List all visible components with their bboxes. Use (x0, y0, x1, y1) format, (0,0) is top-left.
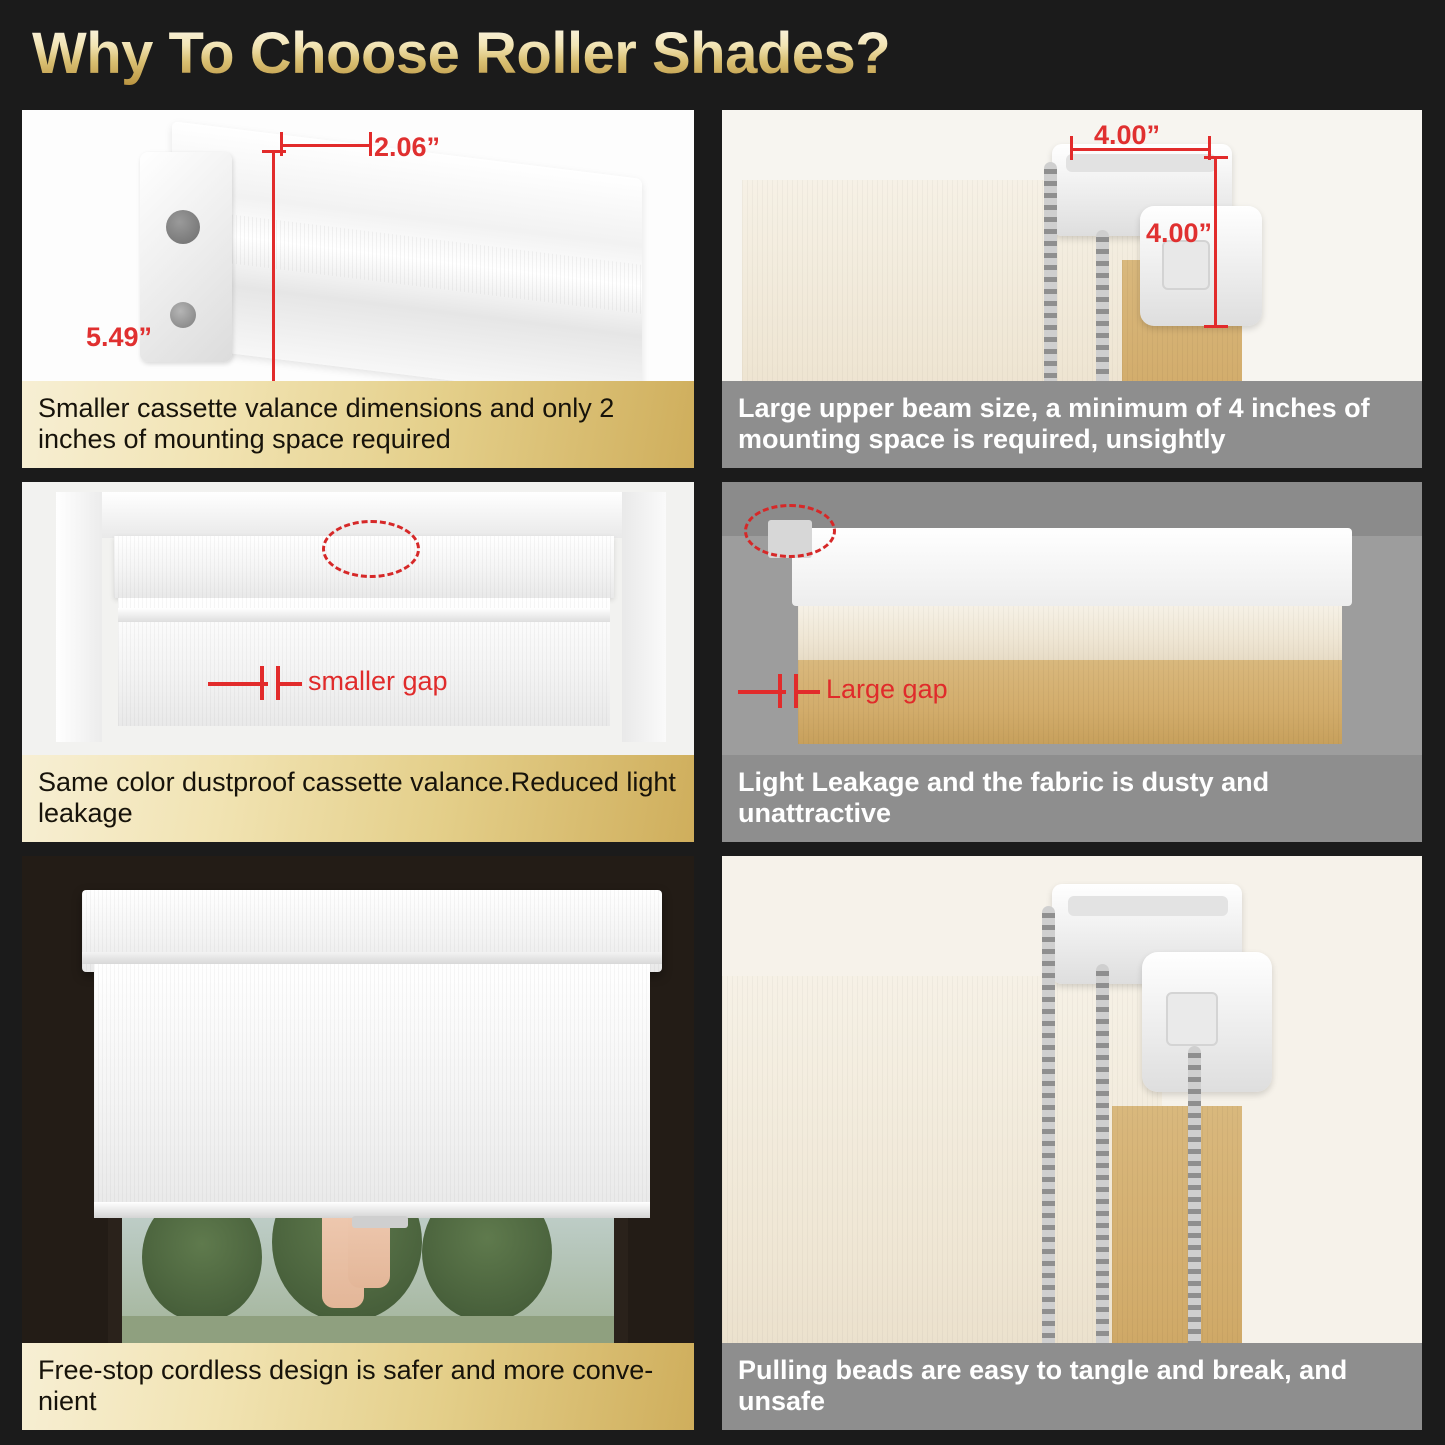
panel-2-width-dimension: 4.00” (1094, 120, 1160, 151)
comparison-panel-2: 4.00” 4.00” Large upper beam size, a min… (722, 110, 1422, 468)
panel-1-caption: Smaller cassette valance dimensions and … (22, 381, 694, 468)
infographic-page: Why To Choose Roller Shades? 2.06” (0, 0, 1445, 1445)
panel-1-width-dimension: 2.06” (374, 132, 440, 163)
comparison-panel-1: 2.06” 5.49” Smaller cassette valance dim… (22, 110, 694, 468)
bead-chain-middle (1096, 964, 1109, 1376)
panel-4-caption: Light Leakage and the fabric is dusty an… (722, 755, 1422, 842)
comparison-panel-5: Free-stop cordless design is safer and m… (22, 856, 694, 1430)
panel-6-caption: Pulling beads are easy to tangle and bre… (722, 1343, 1422, 1430)
panel-4-highlight-ellipse (744, 504, 836, 558)
bead-chain-right (1188, 1046, 1201, 1376)
comparison-panel-3: smaller gap Same color dustproof cassett… (22, 482, 694, 842)
panel-5-caption: Free-stop cordless design is safer and m… (22, 1343, 694, 1430)
panel-2-caption: Large upper beam size, a minimum of 4 in… (722, 381, 1422, 468)
panel-2-depth-dimension: 4.00” (1146, 218, 1212, 249)
comparison-panel-4: Large gap Light Leakage and the fabric i… (722, 482, 1422, 842)
panel-3-highlight-ellipse (322, 520, 420, 578)
page-title: Why To Choose Roller Shades? (32, 20, 890, 87)
bead-chain-left (1042, 906, 1055, 1376)
panel-3-caption: Same color dustproof cassette valance.Re… (22, 755, 694, 842)
panel-grid: 2.06” 5.49” Smaller cassette valance dim… (22, 110, 1422, 1430)
panel-4-gap-label: Large gap (826, 674, 948, 705)
comparison-panel-6: Pulling beads are easy to tangle and bre… (722, 856, 1422, 1430)
panel-1-height-dimension: 5.49” (86, 322, 152, 353)
panel-3-gap-label: smaller gap (308, 666, 448, 697)
